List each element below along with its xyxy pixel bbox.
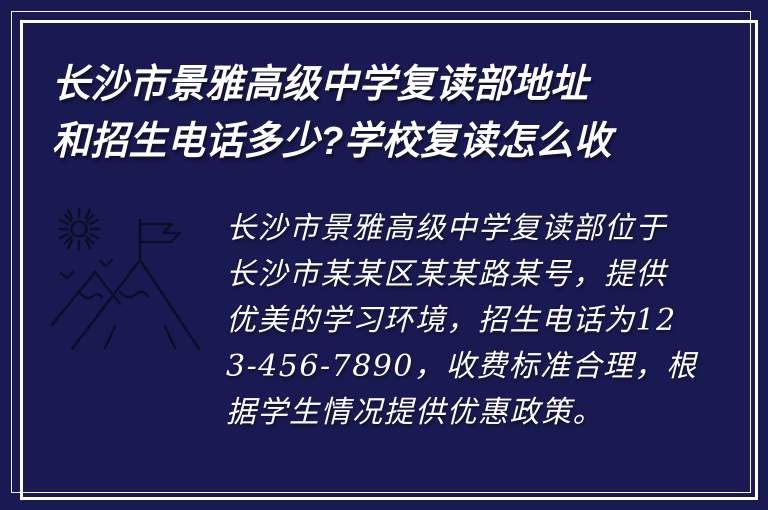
mountain-peak-flag-illustration: [48, 196, 208, 371]
page-title: 长沙市景雅高级中学复读部地址 和招生电话多少?学校复读怎么收: [52, 56, 652, 170]
body-text-line-4: 3-456-7890，收费标准合理，根: [226, 344, 656, 390]
bird-icon: [100, 260, 112, 266]
body-text-line-5: 据学生情况提供优惠政策。: [226, 390, 656, 436]
flag-icon: [140, 220, 180, 260]
poster-canvas: 长沙市景雅高级中学复读部地址 和招生电话多少?学校复读怎么收: [0, 0, 768, 510]
body-text-line-2: 长沙市某某区某某路某号，提供: [226, 252, 656, 298]
mountain-large-icon: [72, 260, 199, 349]
body-text-line-1: 长沙市景雅高级中学复读部位于: [226, 206, 656, 252]
sun-icon: [59, 209, 99, 249]
body-text-line-3: 优美的学习环境，招生电话为12: [226, 298, 656, 344]
page-title-line-1: 长沙市景雅高级中学复读部地址: [52, 56, 634, 113]
bird-icon: [61, 272, 73, 278]
body-text: 长沙市景雅高级中学复读部位于 长沙市某某区某某路某号，提供 优美的学习环境，招生…: [226, 206, 656, 436]
page-title-line-2: 和招生电话多少?学校复读怎么收: [52, 113, 634, 170]
